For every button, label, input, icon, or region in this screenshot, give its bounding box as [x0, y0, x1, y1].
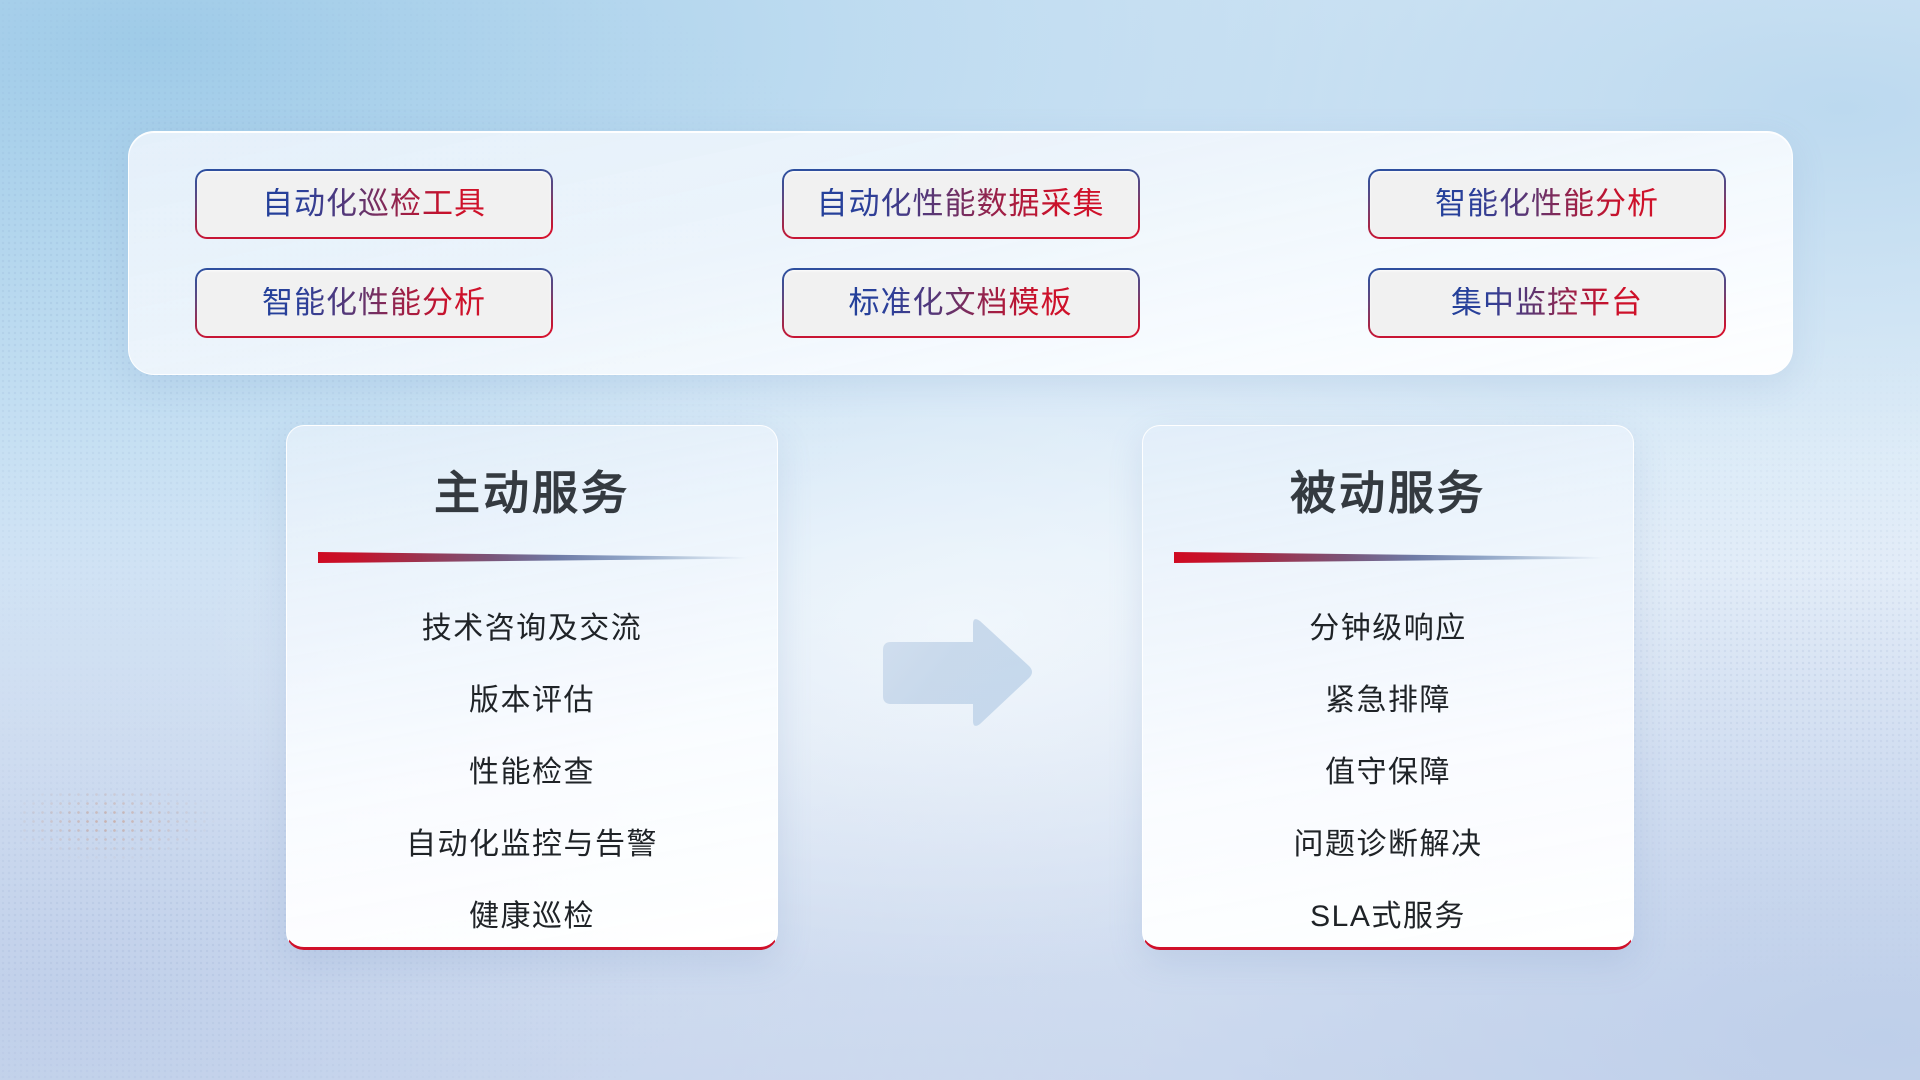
service-item-list-active: 技术咨询及交流 版本评估 性能检查 自动化监控与告警 健康巡检	[287, 563, 777, 950]
list-item[interactable]: 值守保障	[1143, 737, 1633, 809]
pill-label: 集中监控平台	[1451, 287, 1643, 318]
service-card-passive: 被动服务 分钟级响应 紧急排障 值守保障 问题诊断解决 SLA式服务	[1142, 425, 1634, 950]
card-title-active: 主动服务	[287, 470, 777, 516]
pill-label: 自动化性能数据采集	[817, 188, 1105, 219]
list-item[interactable]: 技术咨询及交流	[287, 593, 777, 665]
capability-pill-centralized-monitoring-platform[interactable]: 集中监控平台	[1368, 268, 1726, 338]
arrow-right-icon	[877, 614, 1037, 734]
card-title-divider	[318, 552, 746, 563]
pill-surface: 智能化性能分析	[1370, 171, 1724, 237]
list-item[interactable]: 健康巡检	[287, 881, 777, 950]
list-item[interactable]: 问题诊断解决	[1143, 809, 1633, 881]
capability-pill-row-2: 智能化性能分析 标准化文档模板 集中监控平台	[195, 268, 1726, 338]
pill-surface: 标准化文档模板	[784, 270, 1138, 336]
pill-label: 智能化性能分析	[262, 287, 486, 318]
capability-pill-intelligent-performance-analysis-2[interactable]: 智能化性能分析	[195, 268, 553, 338]
capability-pill-automation-inspection-tool[interactable]: 自动化巡检工具	[195, 169, 553, 239]
flow-arrow-container	[877, 614, 1037, 734]
capability-pill-intelligent-performance-analysis[interactable]: 智能化性能分析	[1368, 169, 1726, 239]
service-card-active: 主动服务 技术咨询及交流 版本评估 性能检查 自动化监控与告警 健康巡检	[286, 425, 778, 950]
list-item[interactable]: 分钟级响应	[1143, 593, 1633, 665]
service-item-list-passive: 分钟级响应 紧急排障 值守保障 问题诊断解决 SLA式服务	[1143, 563, 1633, 950]
list-item[interactable]: 自动化监控与告警	[287, 809, 777, 881]
pill-surface: 集中监控平台	[1370, 270, 1724, 336]
pill-surface: 智能化性能分析	[197, 270, 551, 336]
capability-pill-automation-performance-data-collection[interactable]: 自动化性能数据采集	[782, 169, 1140, 239]
list-item[interactable]: SLA式服务	[1143, 881, 1633, 950]
list-item[interactable]: 紧急排障	[1143, 665, 1633, 737]
list-item[interactable]: 版本评估	[287, 665, 777, 737]
pill-label: 自动化巡检工具	[262, 188, 486, 219]
list-item[interactable]: 性能检查	[287, 737, 777, 809]
capability-pill-panel: 自动化巡检工具 自动化性能数据采集 智能化性能分析 智能化性能分析 标准化文档模…	[128, 131, 1793, 375]
pill-surface: 自动化性能数据采集	[784, 171, 1138, 237]
pill-label: 标准化文档模板	[849, 287, 1073, 318]
capability-pill-standardized-document-template[interactable]: 标准化文档模板	[782, 268, 1140, 338]
pill-surface: 自动化巡检工具	[197, 171, 551, 237]
card-title-divider	[1174, 552, 1602, 563]
capability-pill-row-1: 自动化巡检工具 自动化性能数据采集 智能化性能分析	[195, 169, 1726, 239]
pill-label: 智能化性能分析	[1435, 188, 1659, 219]
card-title-passive: 被动服务	[1143, 470, 1633, 516]
